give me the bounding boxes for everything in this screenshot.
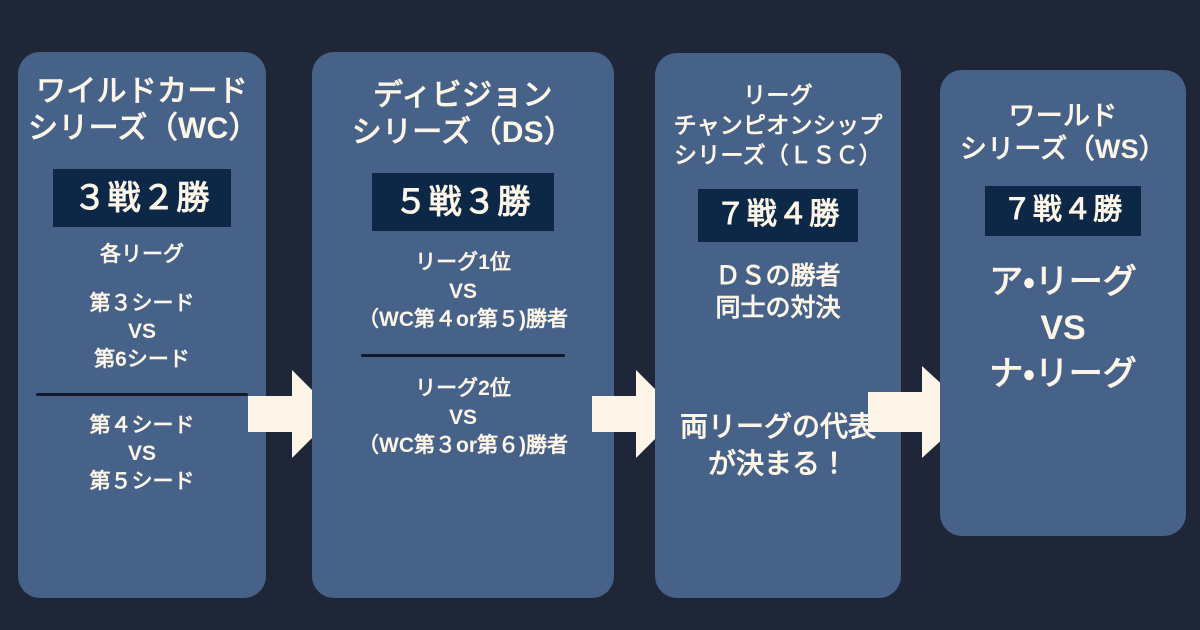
stage-title-division-series: ディビジョン シリーズ（DS） bbox=[320, 78, 606, 151]
stage-badge-league-championship-series: ７戦４勝 bbox=[698, 189, 859, 242]
matchup-world-series: ア・リーグ VS ナ・リーグ bbox=[950, 260, 1176, 398]
matchup-divider-ds bbox=[361, 354, 565, 357]
stage-card-division-series: ディビジョン シリーズ（DS） ５戦３勝 リーグ1位 VS （WC第４or第５)… bbox=[312, 52, 614, 598]
matchup-wc-lower: 第４シード VS 第５シード bbox=[28, 412, 256, 497]
stage-outcome-lsc: 両リーグの代表 が決まる！ bbox=[663, 409, 893, 483]
stage-title-world-series: ワールド シリーズ（WS） bbox=[950, 100, 1176, 166]
stage-title-wild-card-series: ワイルドカード シリーズ（WC） bbox=[28, 74, 256, 147]
matchup-ds-lower: リーグ2位 VS （WC第３or第６)勝者 bbox=[320, 375, 606, 460]
stage-badge-world-series: ７戦４勝 bbox=[985, 186, 1142, 236]
stage-note-wild-card-series: 各リーグ bbox=[28, 241, 256, 269]
stage-description-lsc: ＤＳの勝者 同士の対決 bbox=[663, 260, 893, 325]
matchup-wc-upper: 第３シード VS 第6シード bbox=[28, 290, 256, 375]
postseason-flow-diagram: ワイルドカード シリーズ（WC） ３戦２勝 各リーグ 第３シード VS 第6シー… bbox=[0, 0, 1200, 630]
stage-badge-division-series: ５戦３勝 bbox=[372, 173, 553, 231]
matchup-divider-wc bbox=[36, 393, 248, 396]
stage-card-world-series: ワールド シリーズ（WS） ７戦４勝 ア・リーグ VS ナ・リーグ bbox=[940, 70, 1186, 536]
stage-card-wild-card-series: ワイルドカード シリーズ（WC） ３戦２勝 各リーグ 第３シード VS 第6シー… bbox=[18, 52, 266, 598]
stage-badge-wild-card-series: ３戦２勝 bbox=[53, 169, 230, 227]
stage-card-league-championship-series: リーグ チャンピオンシップ シリーズ（ＬＳＣ） ７戦４勝 ＤＳの勝者 同士の対決… bbox=[655, 53, 901, 598]
stage-title-league-championship-series: リーグ チャンピオンシップ シリーズ（ＬＳＣ） bbox=[663, 81, 893, 171]
matchup-ds-upper: リーグ1位 VS （WC第４or第５)勝者 bbox=[320, 249, 606, 334]
